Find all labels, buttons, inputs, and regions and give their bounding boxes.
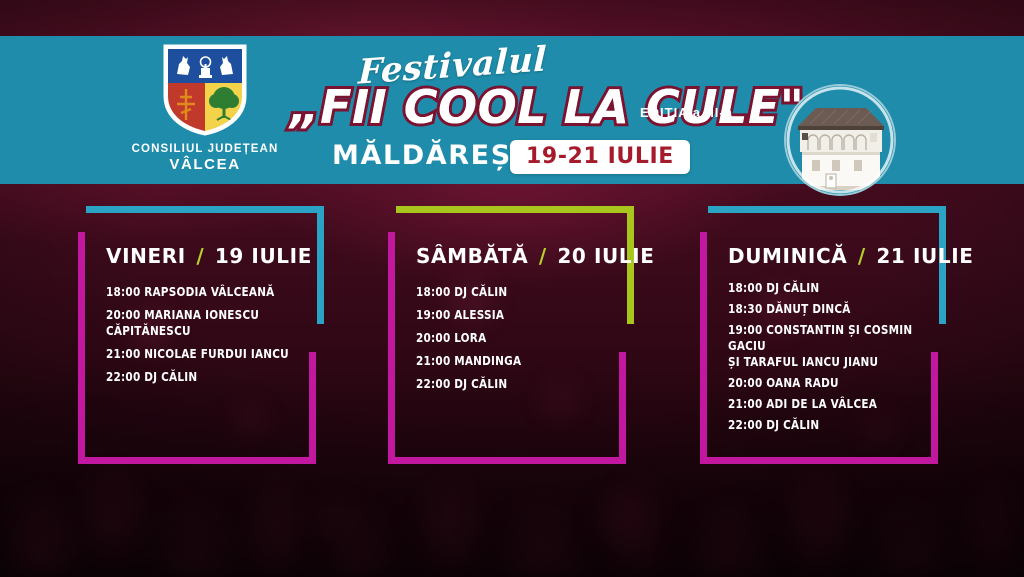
frame-bottom-edge [388,457,626,464]
festival-date-badge: 19-21 IULIE [510,140,690,174]
schedule-slot: 18:30DĂNUȚ DINCĂ [728,301,928,317]
day-schedule-list-sambata: 18:00DJ CĂLIN 19:00ALESSIA 20:00LORA 21:… [416,284,631,399]
frame-top-edge [86,206,324,213]
slot-time: 18:30 [728,301,762,316]
schedule-slot: 19:00CONSTANTIN ȘI COSMIN GACIU ȘI TARAF… [728,322,928,370]
frame-bottom-edge [700,457,938,464]
day-separator: / [539,244,547,268]
slot-time: 21:00 [416,353,450,368]
slot-time: 19:00 [416,307,450,322]
schedule-slot: 21:00NICOLAE FURDUI IANCU [106,346,306,362]
slot-time: 19:00 [728,322,762,337]
day-name: DUMINICĂ [728,244,847,268]
schedule-slot: 21:00MANDINGA [416,353,616,369]
slot-act: RAPSODIA VÂLCEANĂ [144,284,274,299]
slot-act: DJ CĂLIN [144,369,197,384]
schedule-slot: 19:00ALESSIA [416,307,616,323]
day-schedule-list-vineri: 18:00RAPSODIA VÂLCEANĂ 20:00MARIANA IONE… [106,284,321,392]
day-date: 19 IULIE [215,244,312,268]
council-label-line2: VÂLCEA [125,156,285,175]
day-date: 21 IULIE [876,244,973,268]
slot-act: DJ CĂLIN [766,280,819,295]
schedule-slot: 22:00DJ CĂLIN [106,369,306,385]
slot-time: 20:00 [416,330,450,345]
slot-act: DJ CĂLIN [454,284,507,299]
cula-maldaresti-building-icon [786,86,894,194]
slot-time: 22:00 [416,376,450,391]
day-column-sambata: SÂMBĂTĂ / 20 IULIE 18:00DJ CĂLIN 19:00AL… [388,206,643,464]
frame-left-edge [78,232,85,464]
slot-time: 22:00 [728,417,762,432]
slot-act: DĂNUȚ DINCĂ [766,301,850,316]
day-heading-duminica: DUMINICĂ / 21 IULIE [728,244,974,268]
schedule-slot: 22:00DJ CĂLIN [728,417,928,433]
slot-act: OANA RADU [766,375,839,390]
slot-time: 18:00 [106,284,140,299]
slot-time: 21:00 [106,346,140,361]
schedule-slot: 20:00LORA [416,330,616,346]
frame-left-edge [388,232,395,464]
schedule-slot: 22:00DJ CĂLIN [416,376,616,392]
schedule-slot: 20:00OANA RADU [728,375,928,391]
slot-act: NICOLAE FURDUI IANCU [144,346,289,361]
council-label-line1: CONSILIUL JUDEȚEAN [125,142,285,156]
valcea-county-coat-of-arms-icon [163,44,247,136]
day-separator: / [858,244,866,268]
frame-top-edge [396,206,634,213]
day-name: SÂMBĂTĂ [416,244,528,268]
schedule-slot: 21:00ADI DE LA VÂLCEA [728,396,928,412]
frame-bottom-edge [78,457,316,464]
slot-time: 18:00 [728,280,762,295]
day-separator: / [196,244,204,268]
header-bar: CONSILIUL JUDEȚEAN VÂLCEA Festivalul „FI… [0,36,1024,184]
schedule-slot: 18:00DJ CĂLIN [416,284,616,300]
schedule-slot: 18:00RAPSODIA VÂLCEANĂ [106,284,306,300]
slot-act: ALESSIA [454,307,504,322]
slot-time: 21:00 [728,396,762,411]
slot-time: 22:00 [106,369,140,384]
schedule-slot: 18:00DJ CĂLIN [728,280,928,296]
cula-building-medallion [784,84,896,196]
day-heading-sambata: SÂMBĂTĂ / 20 IULIE [416,244,654,268]
slot-time: 20:00 [106,307,140,322]
day-date: 20 IULIE [557,244,654,268]
slot-time: 18:00 [416,284,450,299]
day-column-vineri: VINERI / 19 IULIE 18:00RAPSODIA VÂLCEANĂ… [78,206,333,464]
slot-act: DJ CĂLIN [766,417,819,432]
poster-stage: CONSILIUL JUDEȚEAN VÂLCEA Festivalul „FI… [0,0,1024,577]
slot-time: 20:00 [728,375,762,390]
council-logo-block: CONSILIUL JUDEȚEAN VÂLCEA [125,44,285,180]
slot-act: LORA [454,330,486,345]
day-name: VINERI [106,244,186,268]
slot-act: DJ CĂLIN [454,376,507,391]
schedule-slot: 20:00MARIANA IONESCU CĂPITĂNESCU [106,307,306,339]
day-heading-vineri: VINERI / 19 IULIE [106,244,312,268]
festival-edition-label: EDIȚIA a III-a [640,105,733,120]
day-column-duminica: DUMINICĂ / 21 IULIE 18:00DJ CĂLIN 18:30D… [700,206,955,464]
slot-act: MANDINGA [454,353,521,368]
slot-act: ADI DE LA VÂLCEA [766,396,877,411]
frame-left-edge [700,232,707,464]
day-schedule-list-duminica: 18:00DJ CĂLIN 18:30DĂNUȚ DINCĂ 19:00CONS… [728,280,943,438]
frame-top-edge [708,206,946,213]
